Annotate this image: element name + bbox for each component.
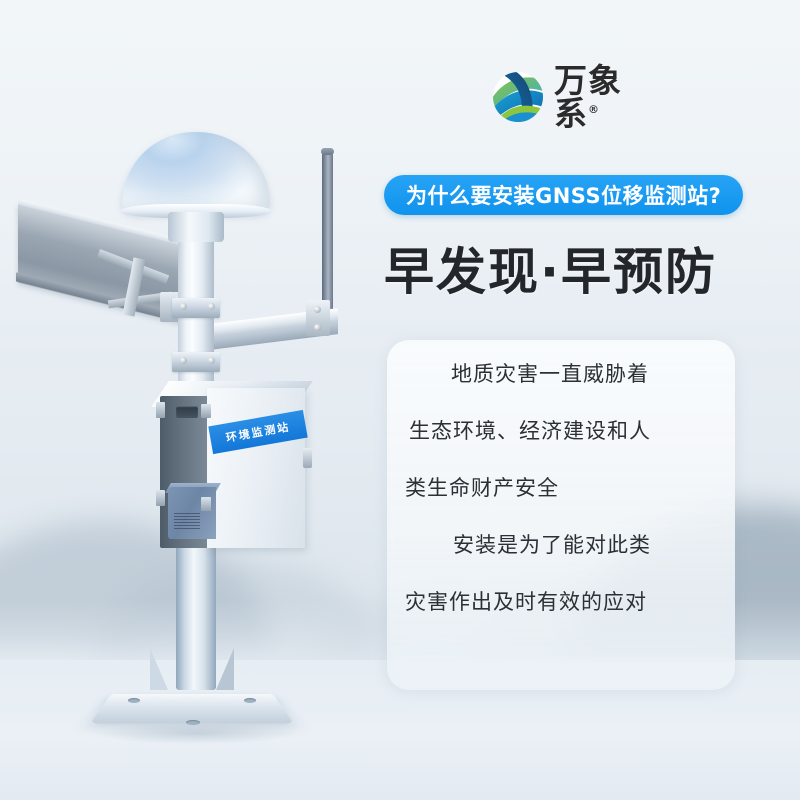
ground-shadow bbox=[96, 722, 296, 744]
enclosure-hinge-bottom bbox=[156, 490, 165, 506]
bolt-icon bbox=[208, 357, 215, 364]
enclosure-latch bbox=[303, 448, 312, 468]
bolt-icon bbox=[180, 357, 187, 364]
bolt-icon bbox=[180, 303, 187, 310]
brand-name-text: 万象系 bbox=[554, 61, 622, 133]
description-lines: 地质灾害一直威胁着 生态环境、经济建设和人 类生命财产安全 安装是为了能对此类 … bbox=[387, 364, 735, 649]
enclosure-vent-slot bbox=[176, 406, 198, 418]
monitoring-station-illustration: 环境监测站 bbox=[0, 0, 400, 800]
base-bolt-hole bbox=[186, 720, 200, 725]
question-banner: 为什么要安装GNSS位移监测站? bbox=[384, 175, 743, 215]
antenna-rod bbox=[322, 150, 333, 318]
base-gusset-right bbox=[216, 648, 234, 690]
page-headline: 早发现·早预防 bbox=[384, 232, 717, 304]
globe-swirl-logo-icon bbox=[492, 71, 544, 123]
base-gusset-left bbox=[150, 648, 168, 690]
poster-stage: 环境监测站 bbox=[0, 0, 800, 800]
enclosure-clip-bottom bbox=[201, 497, 211, 511]
description-line: 灾害作出及时有效的应对 bbox=[387, 592, 735, 613]
bolt-icon bbox=[208, 303, 215, 310]
gnss-antenna-dome bbox=[122, 132, 270, 214]
description-line: 生态环境、经济建设和人 bbox=[387, 421, 735, 442]
base-bolt-hole bbox=[128, 698, 140, 703]
description-line: 安装是为了能对此类 bbox=[387, 535, 735, 556]
brand-name: 万象系® bbox=[554, 64, 652, 130]
gnss-antenna-neck bbox=[168, 212, 224, 242]
bolt-icon bbox=[314, 306, 321, 313]
base-bolt-hole bbox=[244, 698, 256, 703]
enclosure-clip-top bbox=[201, 404, 211, 418]
question-banner-text: 为什么要安装GNSS位移监测站? bbox=[406, 180, 721, 210]
description-line: 类生命财产安全 bbox=[387, 478, 735, 499]
brand-logo: 万象系® bbox=[492, 68, 652, 126]
antenna-rod-cap bbox=[321, 148, 334, 155]
bolt-icon bbox=[314, 324, 321, 331]
base-plate bbox=[90, 694, 293, 723]
description-card: 地质灾害一直威胁着 生态环境、经济建设和人 类生命财产安全 安装是为了能对此类 … bbox=[387, 340, 735, 690]
enclosure-hinge-top bbox=[156, 402, 165, 418]
enclosure-louver-grill bbox=[174, 513, 200, 531]
registered-mark: ® bbox=[588, 103, 600, 116]
description-line: 地质灾害一直威胁着 bbox=[387, 364, 735, 385]
